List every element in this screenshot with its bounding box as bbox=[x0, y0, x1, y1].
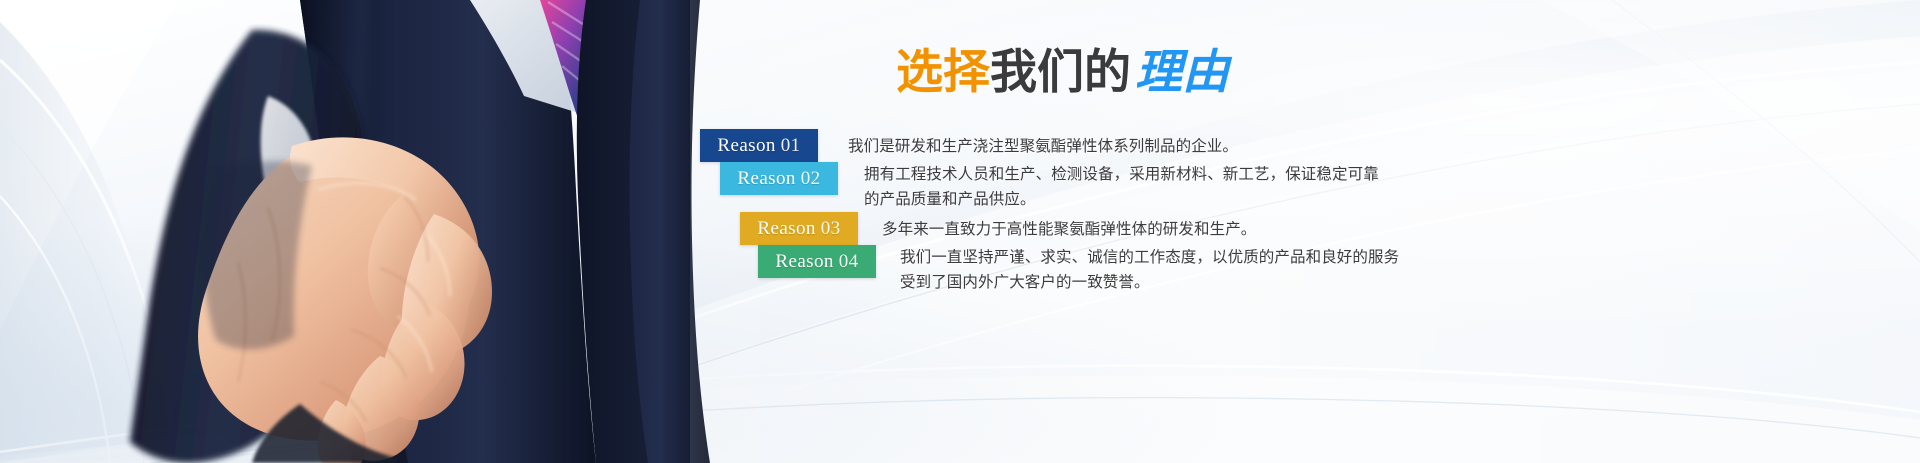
reason-badge-03: Reason03 bbox=[740, 212, 858, 245]
reason-badge-number-02: 02 bbox=[796, 168, 821, 190]
reason-badge-04: Reason04 bbox=[758, 245, 876, 278]
reason-text-01: 我们是研发和生产浇注型聚氨酯弹性体系列制品的企业。 bbox=[848, 129, 1238, 159]
reason-badge-label-04: Reason bbox=[775, 251, 833, 273]
reason-badge-label-03: Reason bbox=[757, 218, 815, 240]
reason-item-03: Reason03 多年来一直致力于高性能聚氨酯弹性体的研发和生产。 bbox=[700, 212, 1920, 245]
reason-badge-number-03: 03 bbox=[816, 218, 841, 240]
reason-text-02: 拥有工程技术人员和生产、检测设备，采用新材料、新工艺，保证稳定可靠 的产品质量和… bbox=[864, 162, 1379, 212]
reason-text-04: 我们一直坚持严谨、求实、诚信的工作态度，以优质的产品和良好的服务 受到了国内外广… bbox=[900, 245, 1399, 295]
reason-item-01: Reason01 我们是研发和生产浇注型聚氨酯弹性体系列制品的企业。 bbox=[700, 129, 1920, 162]
reason-item-04: Reason04 我们一直坚持严谨、求实、诚信的工作态度，以优质的产品和良好的服… bbox=[700, 245, 1920, 295]
reason-badge-01: Reason01 bbox=[700, 129, 818, 162]
reason-badge-label-01: Reason bbox=[717, 135, 775, 157]
reason-badge-02: Reason02 bbox=[720, 162, 838, 195]
reason-badge-number-01: 01 bbox=[776, 135, 801, 157]
reason-list: Reason01 我们是研发和生产浇注型聚氨酯弹性体系列制品的企业。 Reaso… bbox=[700, 129, 1920, 295]
page-title: 选择我们的理由 bbox=[896, 48, 1229, 95]
promo-banner: 选择我们的理由 Reason01 我们是研发和生产浇注型聚氨酯弹性体系列制品的企… bbox=[0, 0, 1920, 463]
reason-text-03: 多年来一直致力于高性能聚氨酯弹性体的研发和生产。 bbox=[882, 212, 1256, 242]
reason-item-02: Reason02 拥有工程技术人员和生产、检测设备，采用新材料、新工艺，保证稳定… bbox=[700, 162, 1920, 212]
reason-badge-number-04: 04 bbox=[834, 251, 859, 273]
businessman-handshake-photo bbox=[0, 0, 760, 463]
banner-content: 选择我们的理由 Reason01 我们是研发和生产浇注型聚氨酯弹性体系列制品的企… bbox=[700, 0, 1920, 463]
title-part-blue: 理由 bbox=[1131, 45, 1229, 98]
title-part-dark: 我们的 bbox=[990, 45, 1131, 98]
reason-badge-label-02: Reason bbox=[737, 168, 795, 190]
title-part-orange: 选择 bbox=[896, 45, 990, 98]
